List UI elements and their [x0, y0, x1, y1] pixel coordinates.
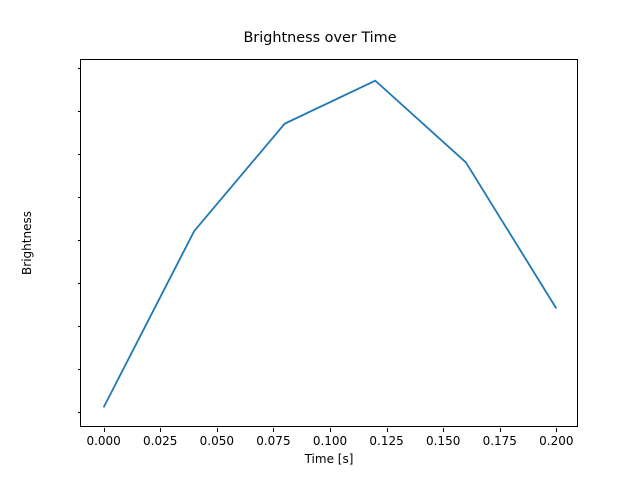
x-tick-mark: [104, 428, 105, 432]
chart-title: Brightness over Time: [0, 30, 640, 46]
x-tick-mark: [443, 428, 444, 432]
y-tick-mark: [78, 68, 82, 69]
x-tick-mark: [217, 428, 218, 432]
x-tick-mark: [387, 428, 388, 432]
y-tick-mark: [78, 197, 82, 198]
y-tick-mark: [78, 283, 82, 284]
line-series-svg: [81, 60, 579, 428]
y-tick-mark: [78, 154, 82, 155]
y-tick-mark: [78, 326, 82, 327]
x-tick-mark: [160, 428, 161, 432]
y-tick-mark: [78, 240, 82, 241]
data-line-brightness: [104, 81, 557, 408]
y-tick-mark: [78, 369, 82, 370]
x-tick-label: 0.200: [516, 434, 596, 448]
x-axis-label: Time [s]: [80, 452, 578, 466]
plot-area: 901001101201301401501601700.0000.0250.05…: [80, 59, 578, 427]
figure-canvas: Brightness over Time Brightness 90100110…: [0, 0, 640, 480]
x-tick-mark: [330, 428, 331, 432]
y-tick-mark: [78, 412, 82, 413]
y-axis-label: Brightness: [18, 59, 36, 427]
x-tick-mark: [273, 428, 274, 432]
x-tick-mark: [500, 428, 501, 432]
y-tick-mark: [78, 111, 82, 112]
x-tick-mark: [556, 428, 557, 432]
